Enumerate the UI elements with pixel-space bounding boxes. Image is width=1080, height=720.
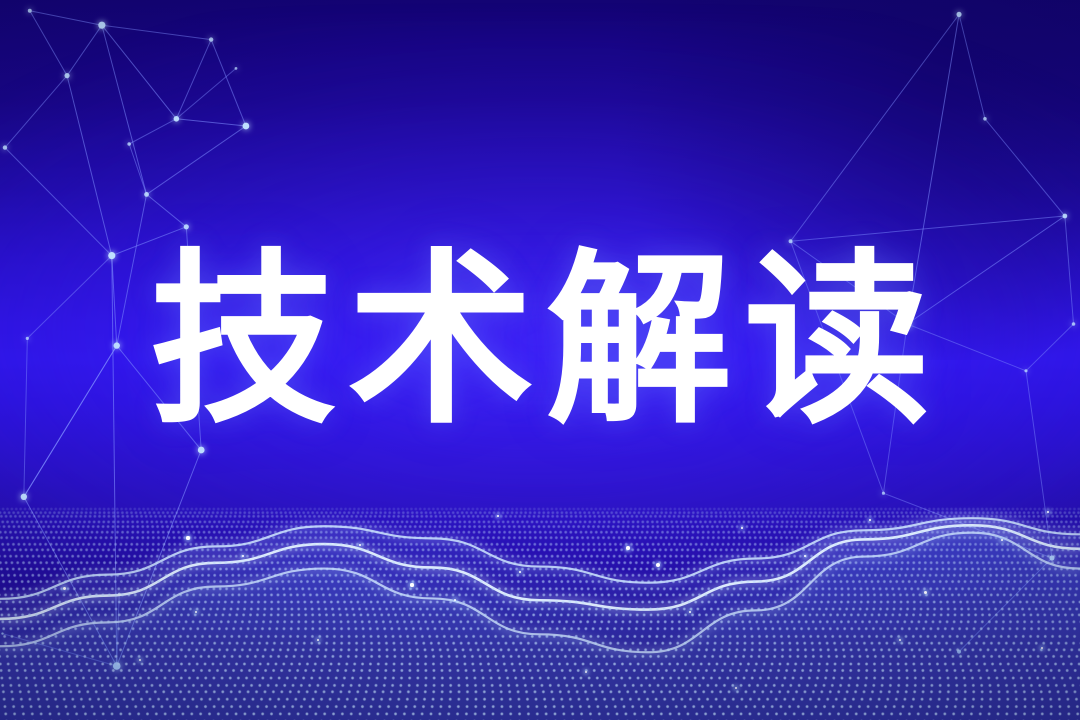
center-glow xyxy=(0,21,1080,641)
sparkle-dot xyxy=(656,563,660,567)
sparkle-dot xyxy=(410,583,413,586)
sparkle-dot xyxy=(924,591,927,594)
sparkle-dot xyxy=(186,536,189,539)
poster-canvas: 技术解读 xyxy=(0,0,1080,720)
sparkle-dot xyxy=(626,546,630,550)
sparkle-dot xyxy=(63,587,66,590)
